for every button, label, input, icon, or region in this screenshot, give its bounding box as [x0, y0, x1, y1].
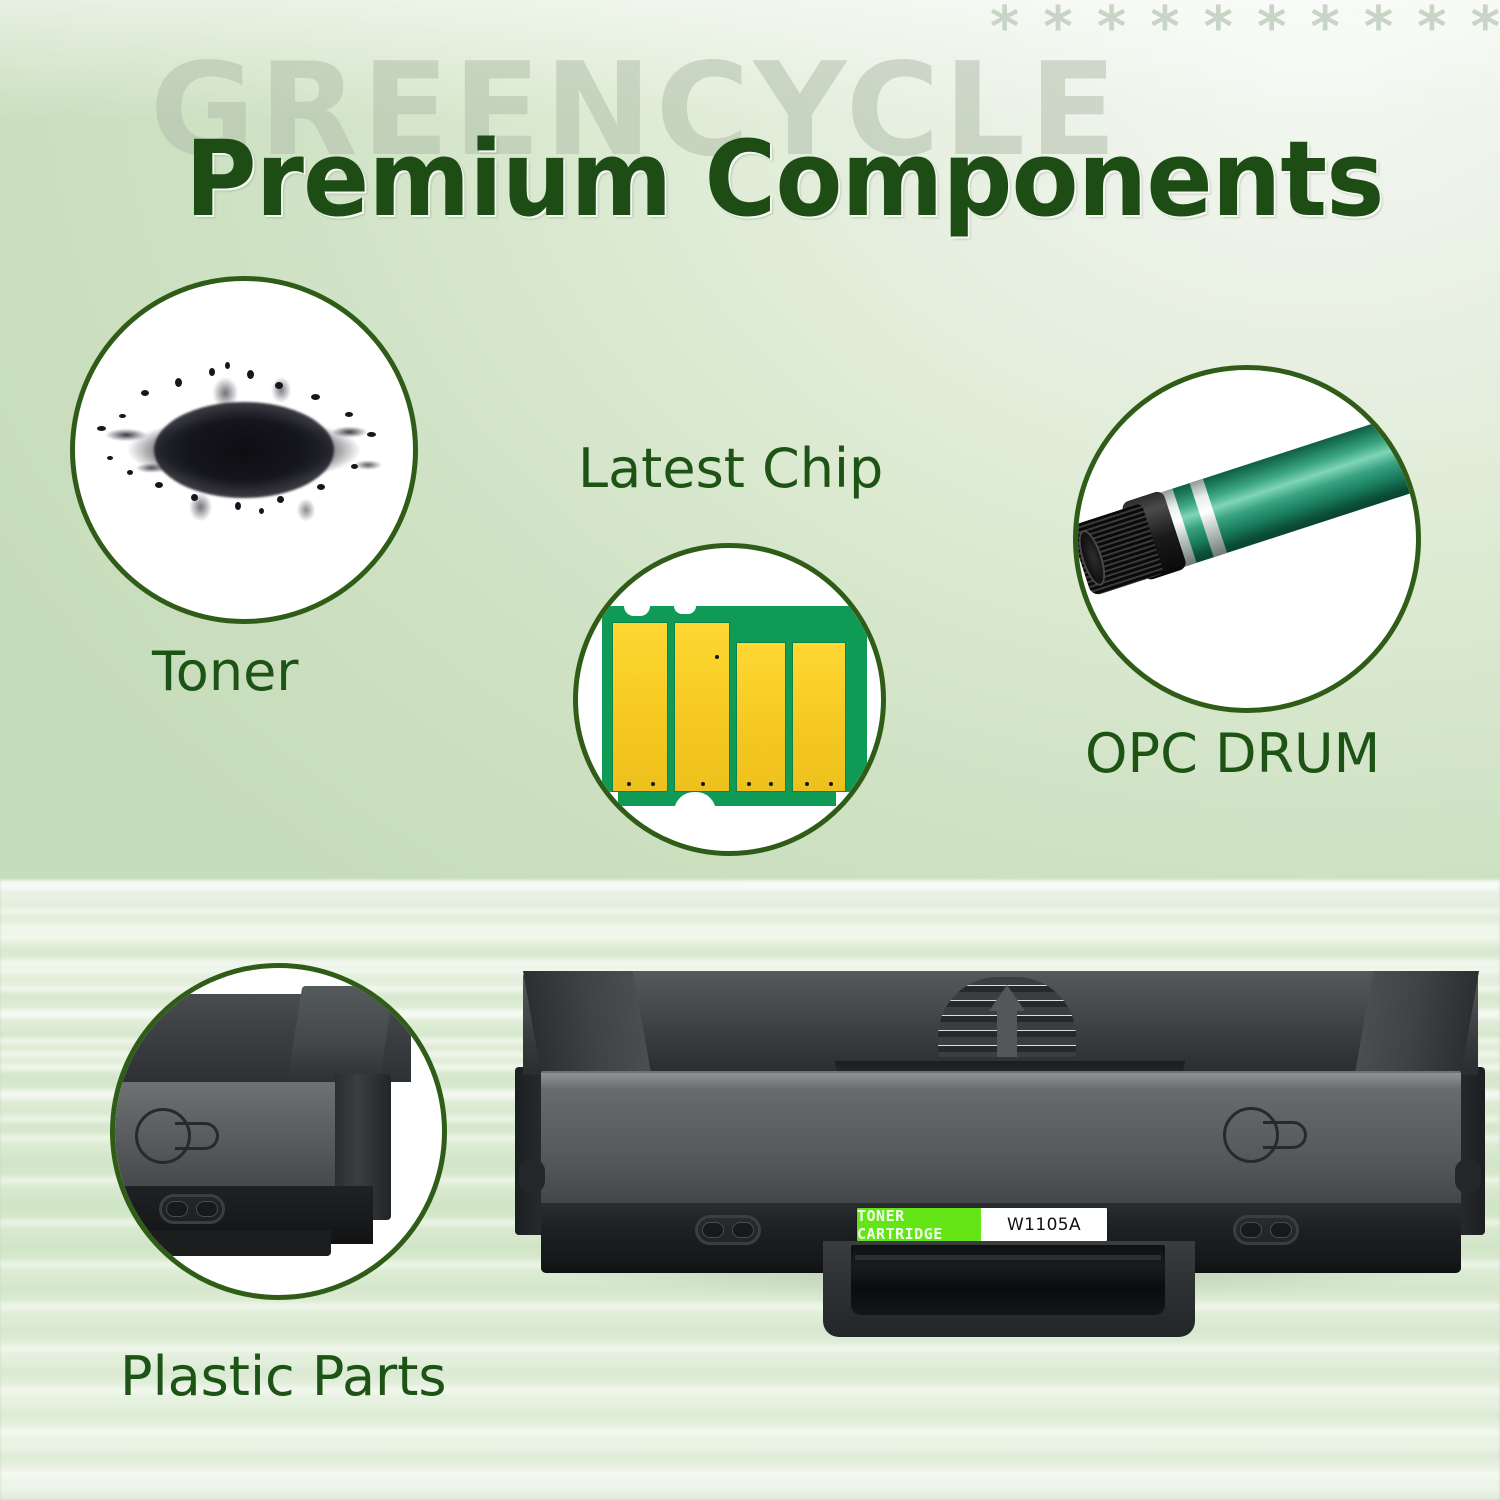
cartridge-lid-bevel-right — [1355, 971, 1479, 1075]
cartridge-label: TONER CARTRIDGE W1105A — [857, 1208, 1107, 1241]
chip-contact-pad — [612, 622, 668, 792]
vent-arrow-stem — [997, 1009, 1017, 1057]
toner-speckles — [79, 360, 409, 540]
page-title: Premium Components — [185, 118, 1383, 240]
feature-label-drum: OPC DRUM — [1085, 722, 1380, 785]
asterisk-icon: * — [1150, 2, 1179, 54]
feature-label-chip: Latest Chip — [578, 437, 883, 500]
feature-circle-chip — [573, 543, 886, 856]
slot-right — [196, 1201, 218, 1217]
chip-contact-pad — [736, 642, 786, 792]
cartridge-label-model: W1105A — [981, 1208, 1107, 1241]
keyhole-tab — [1263, 1121, 1307, 1149]
plastic-housing-icon — [110, 982, 447, 1292]
opc-drum-icon — [1073, 392, 1421, 599]
chip-contact-pad — [674, 622, 730, 792]
asterisk-icon: * — [1204, 2, 1233, 54]
asterisk-icon: * — [1310, 2, 1339, 54]
chip-contact-pad — [792, 642, 846, 792]
keyhole-tab — [175, 1122, 219, 1150]
pcb-chip-icon — [578, 548, 881, 851]
asterisk-icon: * — [1257, 2, 1286, 54]
cartridge-left-knob — [519, 1159, 545, 1193]
feature-circle-drum — [1073, 365, 1421, 713]
cartridge-handle-highlight — [855, 1255, 1161, 1260]
cartridge-body-gloss — [541, 1073, 1461, 1089]
keyhole-emblem-icon — [135, 1108, 219, 1164]
feature-label-plastic: Plastic Parts — [120, 1345, 447, 1408]
dual-slot-icon — [159, 1194, 225, 1224]
plastic-lid-bevel — [288, 986, 395, 1078]
dual-slot-icon — [1233, 1215, 1299, 1245]
asterisk-icon: * — [1364, 2, 1393, 54]
cartridge-main-body — [541, 1071, 1461, 1217]
keyhole-emblem-icon — [1223, 1107, 1307, 1163]
asterisk-icon: * — [1471, 2, 1500, 54]
cartridge-lid-bevel-left — [523, 971, 651, 1075]
cartridge-label-type: TONER CARTRIDGE — [857, 1208, 981, 1241]
toner-cartridge-product: TONER CARTRIDGE W1105A — [505, 963, 1495, 1353]
slot-left — [166, 1201, 188, 1217]
feature-circle-toner — [70, 276, 418, 624]
slot-right — [732, 1222, 754, 1238]
slot-left — [1240, 1222, 1262, 1238]
drum-gear-face — [1073, 527, 1110, 588]
cartridge-right-knob — [1455, 1159, 1481, 1193]
dual-slot-icon — [695, 1215, 761, 1245]
slot-right — [1270, 1222, 1292, 1238]
feature-circle-plastic — [110, 963, 447, 1300]
feature-label-toner: Toner — [152, 640, 299, 703]
slot-left — [702, 1222, 724, 1238]
product-feature-infographic: * * * * * * * * * * GREENCYCLE Premium C… — [0, 0, 1500, 1500]
plastic-base — [123, 1230, 331, 1256]
toner-powder-icon — [79, 360, 409, 540]
asterisk-icon: * — [1417, 2, 1446, 54]
vent-arrow-head — [989, 985, 1025, 1011]
